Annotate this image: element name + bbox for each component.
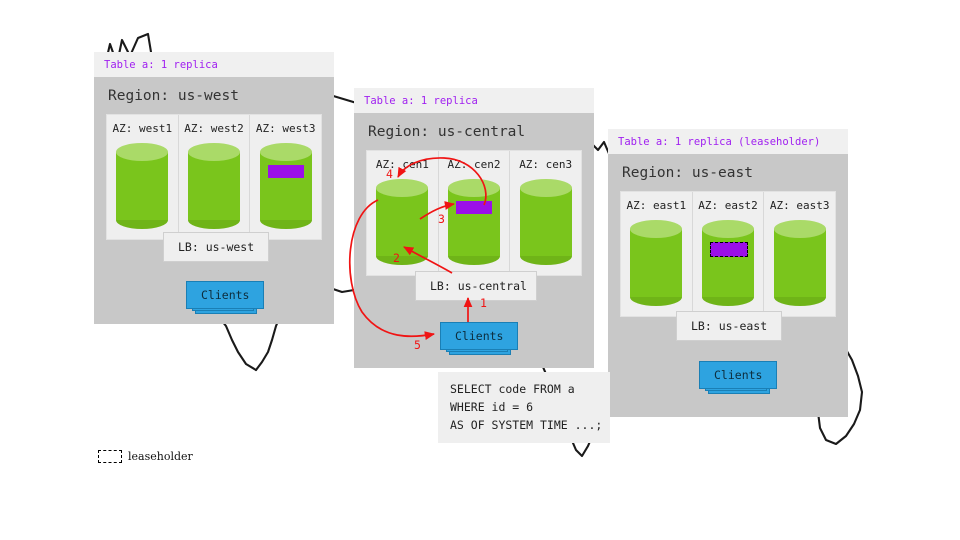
load-balancer-us-central[interactable]: LB: us-central — [415, 271, 537, 301]
replica-block-cen2[interactable] — [456, 201, 492, 214]
az-cell-west3[interactable]: AZ: west3 — [249, 115, 321, 239]
cylinder-top — [448, 179, 500, 197]
lb-label-us-central: LB: us-central — [430, 279, 527, 293]
cylinder-body — [188, 152, 240, 220]
load-balancer-us-west[interactable]: LB: us-west — [163, 232, 269, 262]
clients-box-us-central[interactable]: Clients — [440, 322, 518, 350]
lb-label-us-west: LB: us-west — [178, 240, 254, 254]
region-title-us-central: Region: us-central — [354, 113, 594, 150]
clients-label-us-east: Clients — [714, 368, 762, 382]
cylinder-top — [630, 220, 682, 238]
cylinder-top — [188, 143, 240, 161]
cylinder-top — [116, 143, 168, 161]
diagram-canvas: Table a: 1 replica Region: us-west AZ: w… — [0, 0, 960, 540]
flow-step-number-2: 2 — [393, 251, 400, 265]
clients-label-us-west: Clients — [201, 288, 249, 302]
az-label-west2: AZ: west2 — [179, 122, 250, 135]
replica-block-east2-leaseholder[interactable] — [710, 242, 748, 257]
lb-label-us-east: LB: us-east — [691, 319, 767, 333]
node-cylinder-east3[interactable] — [774, 220, 826, 306]
flow-step-number-4: 4 — [386, 167, 393, 181]
az-cell-cen1[interactable]: AZ: cen1 — [367, 151, 438, 275]
clients-label-us-central: Clients — [455, 329, 503, 343]
leaseholder-swatch-icon — [98, 450, 122, 463]
legend-label: leaseholder — [128, 450, 193, 463]
node-cylinder-east1[interactable] — [630, 220, 682, 306]
flow-step-number-5: 5 — [414, 338, 421, 352]
az-row-us-west: AZ: west1 AZ: west2 — [106, 114, 322, 240]
az-label-west1: AZ: west1 — [107, 122, 178, 135]
cylinder-top — [376, 179, 428, 197]
az-cell-west1[interactable]: AZ: west1 — [107, 115, 178, 239]
cylinder-body — [116, 152, 168, 220]
region-title-us-west: Region: us-west — [94, 77, 334, 114]
region-title-us-east: Region: us-east — [608, 154, 848, 191]
cylinder-body — [260, 152, 312, 220]
az-label-cen3: AZ: cen3 — [510, 158, 581, 171]
replica-block-west3[interactable] — [268, 165, 304, 178]
flow-step-number-1: 1 — [480, 296, 487, 310]
region-banner-us-east: Table a: 1 replica (leaseholder) — [608, 129, 848, 154]
az-label-east1: AZ: east1 — [621, 199, 692, 212]
clients-front-us-west[interactable]: Clients — [186, 281, 264, 309]
node-cylinder-west1[interactable] — [116, 143, 168, 229]
az-cell-east2[interactable]: AZ: east2 — [692, 192, 764, 316]
az-cell-east1[interactable]: AZ: east1 — [621, 192, 692, 316]
clients-box-us-west[interactable]: Clients — [186, 281, 264, 309]
cylinder-body — [376, 188, 428, 256]
cylinder-body — [774, 229, 826, 297]
clients-front-us-east[interactable]: Clients — [699, 361, 777, 389]
cylinder-top — [702, 220, 754, 238]
cylinder-body — [702, 229, 754, 297]
clients-box-us-east[interactable]: Clients — [699, 361, 777, 389]
sql-query-box: SELECT code FROM a WHERE id = 6 AS OF SY… — [438, 372, 610, 443]
cylinder-body — [630, 229, 682, 297]
cylinder-top — [260, 143, 312, 161]
node-cylinder-east2[interactable] — [702, 220, 754, 306]
node-cylinder-west3[interactable] — [260, 143, 312, 229]
az-cell-cen2[interactable]: AZ: cen2 — [438, 151, 510, 275]
clients-front-us-central[interactable]: Clients — [440, 322, 518, 350]
node-cylinder-cen2[interactable] — [448, 179, 500, 265]
cylinder-top — [520, 179, 572, 197]
cylinder-body — [520, 188, 572, 256]
az-label-east3: AZ: east3 — [764, 199, 835, 212]
az-cell-west2[interactable]: AZ: west2 — [178, 115, 250, 239]
legend: leaseholder — [98, 450, 193, 463]
az-cell-cen3[interactable]: AZ: cen3 — [509, 151, 581, 275]
az-label-cen2: AZ: cen2 — [439, 158, 510, 171]
node-cylinder-cen1[interactable] — [376, 179, 428, 265]
az-cell-east3[interactable]: AZ: east3 — [763, 192, 835, 316]
flow-step-number-3: 3 — [438, 212, 445, 226]
node-cylinder-cen3[interactable] — [520, 179, 572, 265]
az-label-east2: AZ: east2 — [693, 199, 764, 212]
region-banner-us-central: Table a: 1 replica — [354, 88, 594, 113]
region-banner-us-west: Table a: 1 replica — [94, 52, 334, 77]
cylinder-top — [774, 220, 826, 238]
az-label-west3: AZ: west3 — [250, 122, 321, 135]
load-balancer-us-east[interactable]: LB: us-east — [676, 311, 782, 341]
az-row-us-east: AZ: east1 AZ: east2 — [620, 191, 836, 317]
node-cylinder-west2[interactable] — [188, 143, 240, 229]
az-label-cen1: AZ: cen1 — [367, 158, 438, 171]
cylinder-body — [448, 188, 500, 256]
